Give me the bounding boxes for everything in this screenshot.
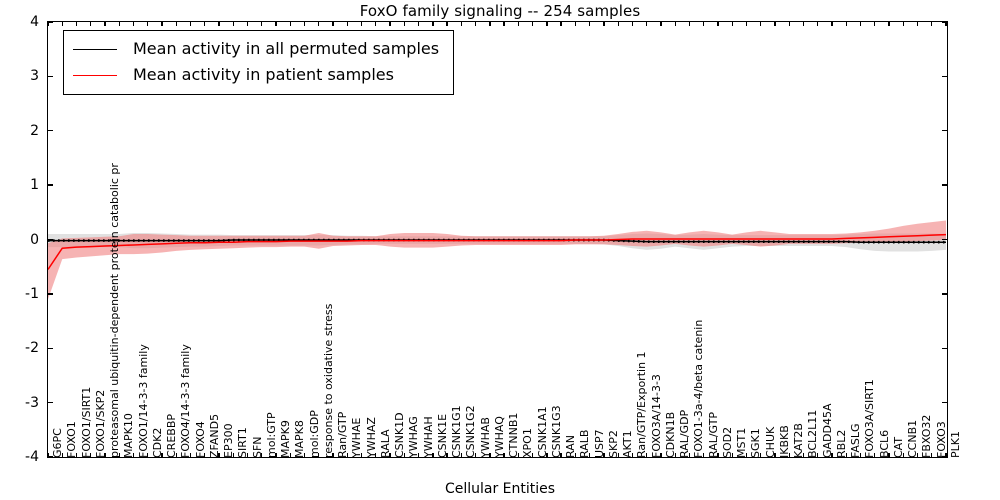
x-axis-tick-mark [176,21,177,26]
x-axis-tick-mark [560,21,561,26]
x-axis-tick-label: CDKN1B [665,412,676,458]
y-axis-tick-mark [942,348,948,349]
x-axis-tick-mark [290,21,291,26]
x-axis-tick-mark [903,21,904,26]
x-axis-tick-label: SGK1 [750,428,761,458]
x-axis-tick-mark [874,21,875,26]
x-axis-tick-labels: G6PCFOXO1FOXO1/SIRT1FOXO1/SKP2proteasoma… [47,460,948,478]
y-axis-tick-mark [47,402,53,403]
x-axis-tick-mark [860,21,861,26]
x-axis-tick-label: ZFAND5 [209,414,220,458]
x-axis-tick-mark [133,21,134,26]
x-axis-tick-label: RALA [380,429,391,458]
x-axis-tick-label: FOXO3A/14-3-3 [651,374,662,458]
x-axis-tick-mark [304,21,305,26]
x-axis-tick-mark [489,21,490,26]
y-axis-tick-label: -3 [0,396,39,410]
x-axis-tick-label: Ran/GTP [337,412,348,458]
x-axis-tick-label: YWHAG [408,416,419,458]
x-axis-tick-mark [603,21,604,26]
x-axis-tick-mark [62,21,63,26]
x-axis-tick-label: BCL6 [879,430,890,458]
x-axis-tick-label: CSNK1G3 [551,405,562,458]
x-axis-tick-mark [689,21,690,26]
x-axis-tick-mark [888,21,889,26]
legend-color-swatch [73,75,117,76]
x-axis-tick-mark [218,21,219,26]
x-axis-tick-mark [389,21,390,26]
x-axis-tick-label: AKT1 [622,430,633,458]
x-axis-tick-label: proteasomal ubiquitin-dependent protein … [109,163,120,458]
x-axis-tick-label: CSNK1G2 [465,405,476,458]
x-axis-tick-mark [703,21,704,26]
x-axis-tick-mark [190,21,191,26]
x-axis-tick-label: BCL2L11 [807,410,818,458]
x-axis-tick-mark [404,21,405,26]
y-axis-tick-mark [47,184,53,185]
x-axis-tick-label: CDK2 [152,428,163,458]
chart-title: FoxO family signaling -- 254 samples [0,2,1000,20]
x-axis-tick-label: FOXO1/SKP2 [95,390,106,458]
x-axis-tick-label: mol:GTP [266,412,277,458]
x-axis-tick-mark [76,21,77,26]
legend-color-swatch [73,49,117,50]
x-axis-tick-mark [204,21,205,26]
x-axis-tick-mark [318,21,319,26]
x-axis-tick-label: CTNNB1 [508,413,519,458]
x-axis-tick-label: SKP2 [608,430,619,458]
x-axis-tick-mark [119,21,120,26]
y-axis-tick-label: -4 [0,450,39,464]
x-axis-tick-label: CSNK1E [437,414,448,458]
y-axis-tick-label: 1 [0,178,39,192]
x-axis-tick-mark [846,21,847,26]
x-axis-tick-label: CAT [893,437,904,458]
y-axis-tick-mark [47,239,53,240]
x-axis-tick-mark [361,21,362,26]
x-axis-tick-label: RAL/GTP [708,412,719,458]
y-axis-tick-label: -2 [0,341,39,355]
x-axis-tick-mark [104,21,105,26]
x-axis-tick-mark [532,21,533,26]
y-axis-tick-mark [942,402,948,403]
x-axis-tick-mark [717,21,718,26]
x-axis-tick-mark [147,21,148,26]
x-axis-tick-label: PLK1 [950,431,961,458]
x-axis-tick-label: FOXO3 [936,421,947,458]
x-axis-tick-mark [332,21,333,26]
x-axis-tick-mark [47,21,48,26]
legend-entry: Mean activity in patient samples [73,62,439,88]
x-axis-tick-label: RALB [579,430,590,458]
x-axis-tick-label: USP7 [594,429,605,458]
x-axis-tick-label: Ran/GTP/Exportin 1 [636,351,647,458]
y-axis-tick-mark [47,348,53,349]
x-axis-tick-label: FOXO1/14-3-3 family [138,344,149,458]
y-axis-tick-label: 0 [0,233,39,247]
x-axis-tick-label: response to oxidative stress [323,304,334,458]
legend-label: Mean activity in all permuted samples [133,41,439,57]
x-axis-tick-mark [945,21,946,26]
x-axis-tick-label: MAPK8 [294,420,305,458]
x-axis-tick-label: FOXO1 [66,421,77,458]
x-axis-tick-mark [161,21,162,26]
x-axis-tick-label: CREBBP [166,414,177,458]
y-axis-tick-mark [942,76,948,77]
y-axis-tick-label: 2 [0,124,39,138]
x-axis-label: Cellular Entities [0,481,1000,497]
x-axis-tick-label: YWHAZ [366,417,377,458]
legend-entry: Mean activity in all permuted samples [73,36,439,62]
x-axis-tick-mark [90,21,91,26]
x-axis-tick-label: CSNK1G1 [451,405,462,458]
x-axis-tick-mark [831,21,832,26]
x-axis-tick-label: FOXO4 [195,421,206,458]
x-axis-tick-label: CCNB1 [907,420,918,458]
x-axis-tick-mark [746,21,747,26]
x-axis-tick-mark [475,21,476,26]
x-axis-tick-label: CHUK [765,427,776,458]
y-axis-tick-mark [942,293,948,294]
x-axis-tick-label: SOD2 [722,427,733,458]
x-axis-tick-label: MST1 [736,428,747,458]
x-axis-tick-mark [660,21,661,26]
y-axis-tick-label: 3 [0,69,39,83]
y-axis-tick-mark [47,130,53,131]
x-axis-tick-mark [418,21,419,26]
x-axis-tick-label: CSNK1A1 [537,406,548,458]
x-axis-tick-label: CSNK1D [394,412,405,458]
x-axis-tick-label: FASLG [850,424,861,458]
legend-label: Mean activity in patient samples [133,67,394,83]
x-axis-tick-mark [675,21,676,26]
x-axis-tick-label: KAT2B [793,423,804,458]
y-axis-tick-label: -1 [0,287,39,301]
x-axis-tick-label: MAPK10 [123,413,134,458]
confidence-band [48,220,946,299]
x-axis-tick-label: MAPK9 [280,420,291,458]
x-axis-tick-mark [503,21,504,26]
x-axis-tick-label: FBXO32 [921,415,932,458]
x-axis-tick-mark [646,21,647,26]
x-axis-tick-label: G6PC [52,428,63,458]
x-axis-tick-mark [732,21,733,26]
y-axis-tick-mark [47,293,53,294]
x-axis-tick-mark [233,21,234,26]
chart-figure: FoxO family signaling -- 254 samples Inf… [0,0,1000,500]
x-axis-tick-mark [247,21,248,26]
x-axis-tick-mark [817,21,818,26]
x-axis-tick-label: IKBKB [779,425,790,458]
chart-legend: Mean activity in all permuted samplesMea… [63,30,454,95]
x-axis-tick-mark [261,21,262,26]
x-axis-tick-label: RAN [565,435,576,458]
x-axis-tick-mark [931,21,932,26]
x-axis-tick-mark [803,21,804,26]
x-axis-tick-mark [347,21,348,26]
x-axis-tick-label: FOXO1/SIRT1 [81,387,92,458]
y-axis-tick-label: 4 [0,15,39,29]
x-axis-tick-label: mol:GDP [309,410,320,458]
y-axis-tick-mark [942,130,948,131]
x-axis-tick-mark [518,21,519,26]
x-axis-tick-label: YWHAQ [494,416,505,458]
x-axis-tick-mark [789,21,790,26]
x-axis-tick-mark [774,21,775,26]
x-axis-tick-label: FOXO1-3a-4/beta catenin [693,320,704,458]
x-axis-tick-label: RAL/GDP [679,410,690,458]
x-axis-tick-mark [618,21,619,26]
y-axis-tick-mark [47,76,53,77]
y-axis-tick-mark [942,184,948,185]
x-axis-tick-label: GADD45A [822,403,833,458]
x-axis-tick-mark [446,21,447,26]
x-axis-tick-mark [375,21,376,26]
x-axis-tick-mark [589,21,590,26]
x-axis-tick-mark [275,21,276,26]
x-axis-tick-label: SFN [252,436,263,458]
x-axis-tick-label: SIRT1 [237,427,248,458]
x-axis-tick-label: YWHAE [351,418,362,458]
x-axis-tick-mark [432,21,433,26]
x-axis-tick-label: YWHAH [423,416,434,458]
x-axis-tick-label: FOXO4/14-3-3 family [180,344,191,458]
x-axis-tick-label: EP300 [223,423,234,458]
x-axis-tick-mark [632,21,633,26]
x-axis-tick-label: XPO1 [522,428,533,458]
x-axis-tick-mark [461,21,462,26]
x-axis-tick-label: YWHAB [480,417,491,458]
x-axis-tick-label: RBL2 [836,430,847,458]
x-axis-tick-label: FOXO3A/SIRT1 [864,379,875,458]
x-axis-tick-mark [47,453,48,458]
x-axis-tick-mark [546,21,547,26]
x-axis-tick-mark [575,21,576,26]
y-axis-tick-mark [942,239,948,240]
x-axis-tick-mark [917,21,918,26]
x-axis-tick-mark [760,21,761,26]
